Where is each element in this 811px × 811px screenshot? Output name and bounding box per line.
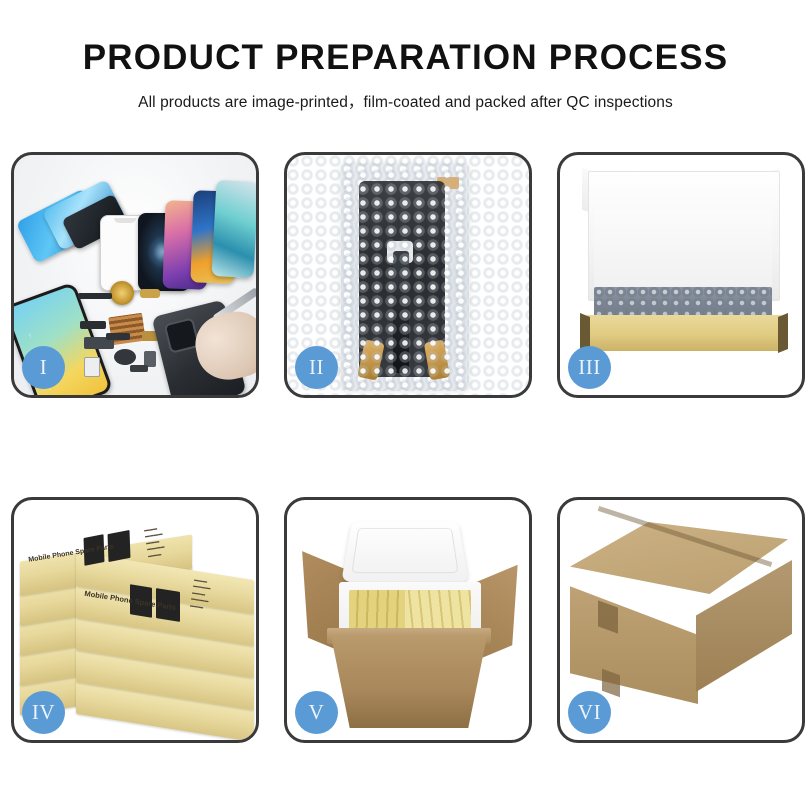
small-part-icon: [78, 293, 112, 299]
small-part-icon: [84, 357, 100, 377]
step-badge-1: I: [22, 346, 65, 389]
step-badge-4: IV: [22, 691, 65, 734]
step-badge-2: II: [295, 346, 338, 389]
foam-lid-icon: [341, 522, 469, 582]
foam-sheet-icon: [594, 211, 772, 295]
box-spec-text: ▬▬▬▬▬▬▬▬▬▬▬▬▬▬▬▬▬: [144, 525, 166, 559]
steps-grid: I II: [11, 152, 805, 743]
kraft-box-tray-icon: [586, 315, 782, 351]
step-badge-5: V: [295, 691, 338, 734]
product-preparation-infographic: PRODUCT PREPARATION PROCESS All products…: [0, 0, 811, 811]
carton-front-face-icon: [570, 576, 698, 704]
step-card-1: I: [11, 152, 259, 398]
step-card-6: VI: [557, 497, 805, 743]
header: PRODUCT PREPARATION PROCESS All products…: [0, 0, 811, 112]
step-card-4: Mobile Phone Spare Parts Mobile Phone Sp…: [11, 497, 259, 743]
small-part-icon: [106, 333, 130, 340]
step-badge-3: III: [568, 346, 611, 389]
step-card-2: II: [284, 152, 532, 398]
small-part-icon: [130, 365, 148, 372]
step-card-3: III: [557, 152, 805, 398]
small-part-icon: [80, 321, 106, 329]
teal-gradient-phone-icon: [212, 180, 256, 278]
flex-cable-icon: [393, 251, 409, 373]
speaker-coil-part-icon: [110, 281, 134, 305]
small-part-icon: [114, 349, 136, 365]
step-card-5: V: [284, 497, 532, 743]
page-title: PRODUCT PREPARATION PROCESS: [0, 40, 811, 77]
page-subtitle: All products are image-printed，film-coat…: [0, 90, 811, 112]
step-badge-6: VI: [568, 691, 611, 734]
carton-body-icon: [331, 636, 487, 728]
small-part-icon: [140, 289, 160, 298]
